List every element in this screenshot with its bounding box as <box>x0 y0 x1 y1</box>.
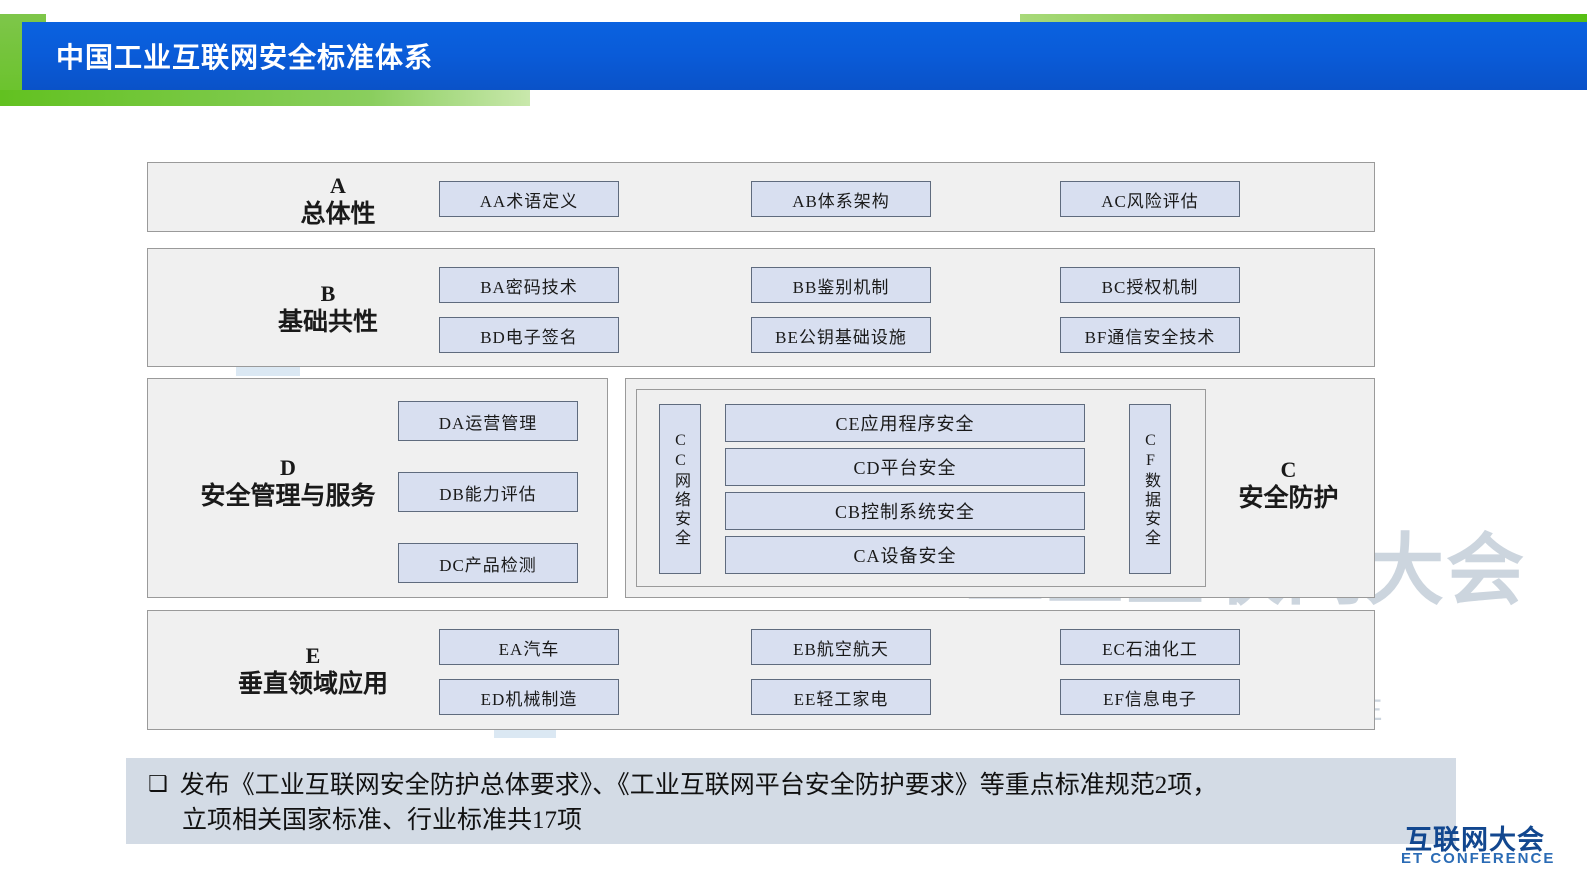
panel-name-c: 安全防护 <box>1206 484 1371 515</box>
chip-cd[interactable]: CD平台安全 <box>725 448 1085 486</box>
chip-bf[interactable]: BF通信安全技术 <box>1060 317 1240 353</box>
panel-label-c: C 安全防护 <box>1206 457 1371 514</box>
chip-eb[interactable]: EB航空航天 <box>751 629 931 665</box>
chip-cb[interactable]: CB控制系统安全 <box>725 492 1085 530</box>
chip-ee[interactable]: EE轻工家电 <box>751 679 931 715</box>
panel-label-a: A 总体性 <box>208 173 468 230</box>
panel-letter-b: B <box>188 281 468 308</box>
chip-cc[interactable]: CC网络安全 <box>659 404 701 574</box>
chip-dc[interactable]: DC产品检测 <box>398 543 578 583</box>
chip-ca[interactable]: CA设备安全 <box>725 536 1085 574</box>
chip-ac[interactable]: AC风险评估 <box>1060 181 1240 217</box>
chip-bc[interactable]: BC授权机制 <box>1060 267 1240 303</box>
chip-ef[interactable]: EF信息电子 <box>1060 679 1240 715</box>
chip-db[interactable]: DB能力评估 <box>398 472 578 512</box>
chip-ce[interactable]: CE应用程序安全 <box>725 404 1085 442</box>
panel-row-a: A 总体性 AA术语定义 AB体系架构 AC风险评估 <box>147 162 1375 232</box>
accent-bar-bottom <box>0 90 530 106</box>
panel-letter-d: D <box>158 455 418 482</box>
chip-aa[interactable]: AA术语定义 <box>439 181 619 217</box>
panel-label-b: B 基础共性 <box>188 281 468 338</box>
chip-ab[interactable]: AB体系架构 <box>751 181 931 217</box>
panel-name-a: 总体性 <box>208 200 468 231</box>
chip-bb[interactable]: BB鉴别机制 <box>751 267 931 303</box>
panel-row-c: CC网络安全 CE应用程序安全 CD平台安全 CB控制系统安全 CA设备安全 C… <box>625 378 1375 598</box>
panel-c-inner-group: CC网络安全 CE应用程序安全 CD平台安全 CB控制系统安全 CA设备安全 C… <box>636 389 1206 587</box>
panel-label-e: E 垂直领域应用 <box>168 643 458 700</box>
chip-ea[interactable]: EA汽车 <box>439 629 619 665</box>
panel-letter-c: C <box>1206 457 1371 484</box>
chip-ec[interactable]: EC石油化工 <box>1060 629 1240 665</box>
footer-note: ❑ 发布《工业互联网安全防护总体要求》、《工业互联网平台安全防护要求》等重点标准… <box>126 758 1456 844</box>
panel-name-b: 基础共性 <box>188 308 468 339</box>
page-title: 中国工业互联网安全标准体系 <box>56 36 433 76</box>
panel-row-b: B 基础共性 BA密码技术 BB鉴别机制 BC授权机制 BD电子签名 BE公钥基… <box>147 248 1375 367</box>
brand-logo-en: ET CONFERENCE <box>1401 850 1555 867</box>
bullet-square-icon: ❑ <box>148 768 168 802</box>
footer-note-text-2: 立项相关国家标准、行业标准共17项 <box>182 803 1456 838</box>
panel-row-e: E 垂直领域应用 EA汽车 EB航空航天 EC石油化工 ED机械制造 EE轻工家… <box>147 610 1375 730</box>
panel-row-d: D 安全管理与服务 DA运营管理 DB能力评估 DC产品检测 <box>147 378 608 598</box>
chip-be[interactable]: BE公钥基础设施 <box>751 317 931 353</box>
chip-ed[interactable]: ED机械制造 <box>439 679 619 715</box>
chip-ba[interactable]: BA密码技术 <box>439 267 619 303</box>
standards-framework-diagram: A 总体性 AA术语定义 AB体系架构 AC风险评估 B 基础共性 BA密码技术… <box>0 118 1587 748</box>
brand-logo: 互联网大会 ET CONFERENCE <box>1391 816 1587 878</box>
footer-note-line-2: 立项相关国家标准、行业标准共17项 <box>148 803 1456 838</box>
chip-da[interactable]: DA运营管理 <box>398 401 578 441</box>
footer-note-text-1: 发布《工业互联网安全防护总体要求》、《工业互联网平台安全防护要求》等重点标准规范… <box>180 768 1456 803</box>
chip-bd[interactable]: BD电子签名 <box>439 317 619 353</box>
panel-name-d: 安全管理与服务 <box>158 482 418 513</box>
chip-cf[interactable]: CF数据安全 <box>1129 404 1171 574</box>
panel-letter-e: E <box>168 643 458 670</box>
page-header: 中国工业互联网安全标准体系 <box>0 0 1587 118</box>
footer-note-line-1: ❑ 发布《工业互联网安全防护总体要求》、《工业互联网平台安全防护要求》等重点标准… <box>148 768 1456 803</box>
panel-name-e: 垂直领域应用 <box>168 670 458 701</box>
panel-letter-a: A <box>208 173 468 200</box>
panel-label-d: D 安全管理与服务 <box>158 455 418 512</box>
